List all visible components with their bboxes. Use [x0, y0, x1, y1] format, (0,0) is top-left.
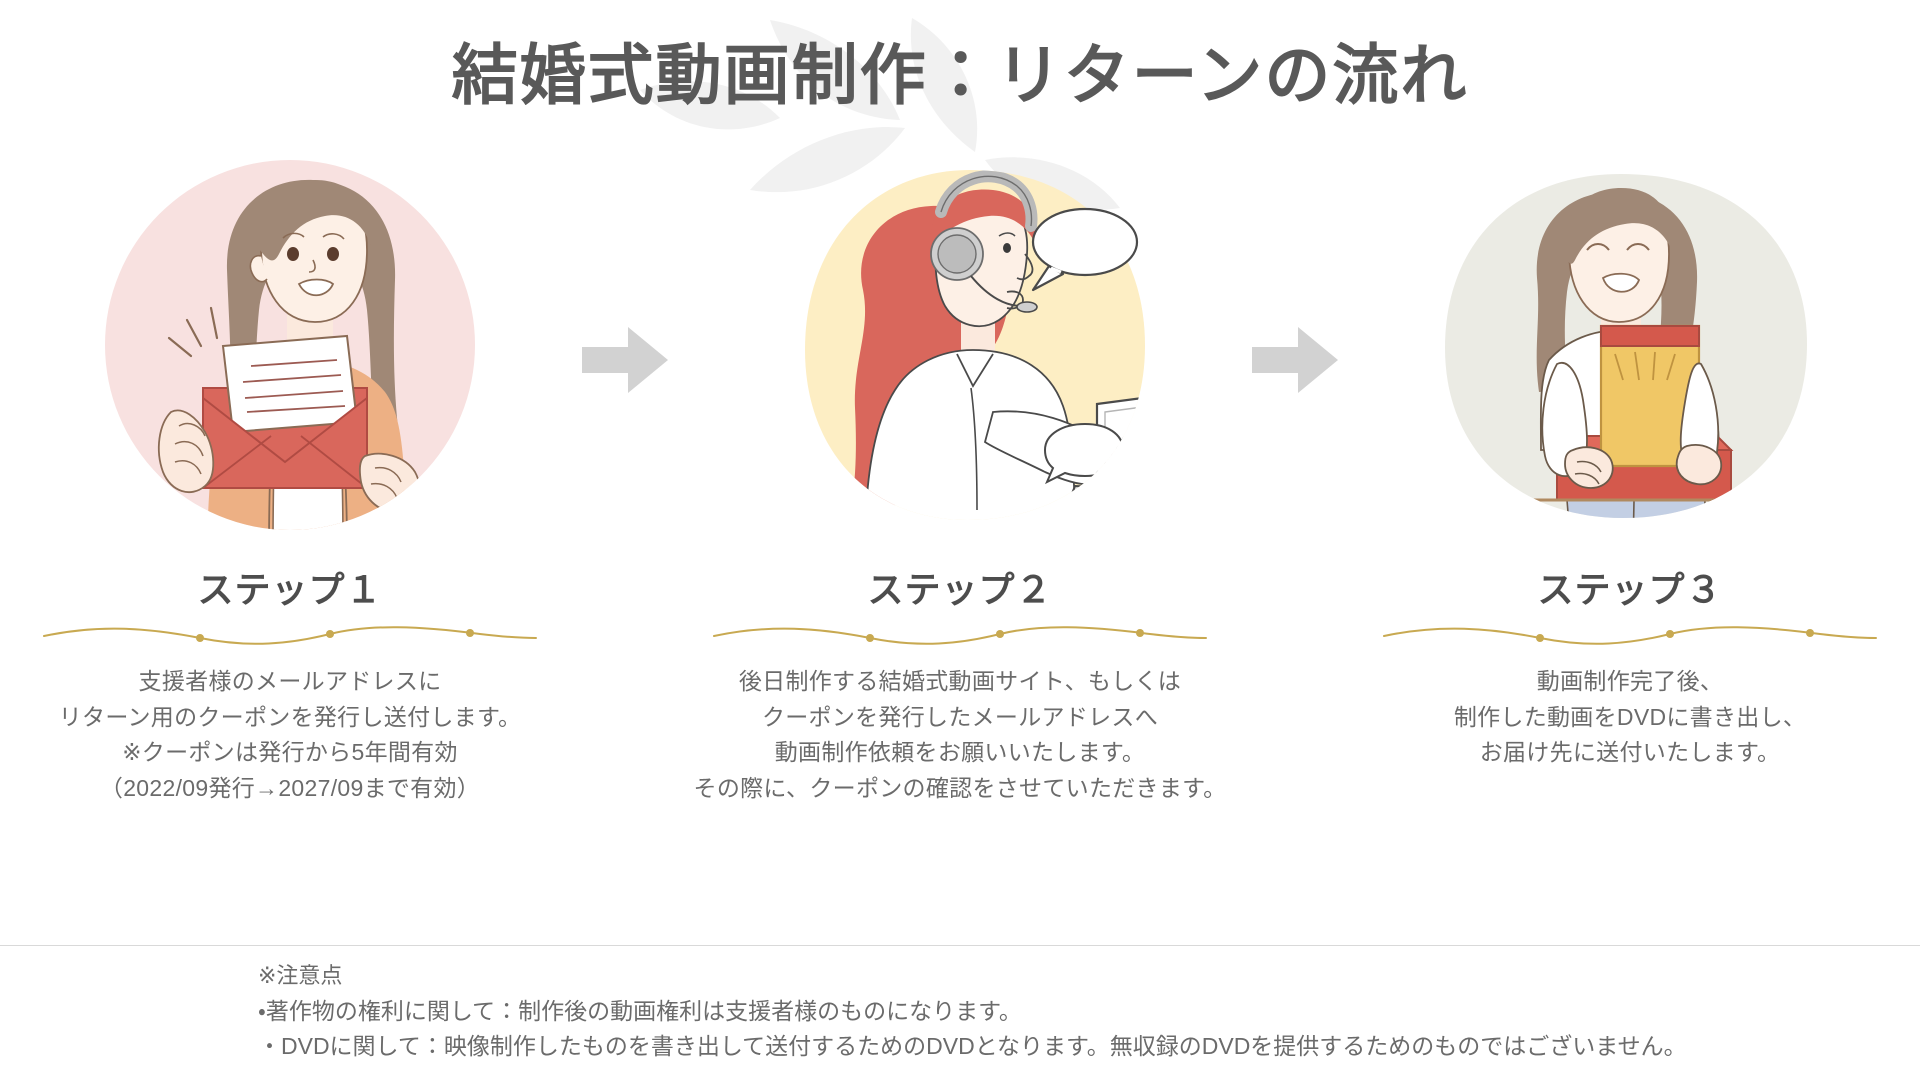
step-card-2: ステップ２ 後日制作する結婚式動画サイト、もしくは クーポンを発行したメールアド…: [680, 150, 1240, 807]
steps-container: ステップ１ 支援者様のメールアドレスに リターン用のクーポンを発行し送付します。…: [0, 150, 1920, 940]
arrow-cell-1: [570, 150, 680, 395]
footer-divider: [0, 945, 1920, 946]
notes-section: ※注意点 ・著作物の権利に関して：制作後の動画権利は支援者様のものになります。 …: [258, 962, 1687, 1061]
woman-packing-parcel-illustration: [1415, 150, 1845, 550]
note-line-copyright: ・著作物の権利に関して：制作後の動画権利は支援者様のものになります。: [258, 997, 1687, 1026]
decorative-divider-1: [40, 622, 540, 648]
arrow-cell-2: [1240, 150, 1350, 395]
arrow-step1-to-step2: [582, 325, 668, 395]
decorative-divider-3: [1380, 622, 1880, 648]
step-card-3: ステップ３ 動画制作完了後、 制作した動画をDVDに書き出し、 お届け先に送付い…: [1350, 150, 1910, 771]
decorative-divider-2: [710, 622, 1210, 648]
step-body-3: 動画制作完了後、 制作した動画をDVDに書き出し、 お届け先に送付いたします。: [1454, 664, 1806, 771]
arrow-step2-to-step3: [1252, 325, 1338, 395]
page-header: 結婚式動画制作：リターンの流れ: [0, 0, 1920, 150]
step-card-1: ステップ１ 支援者様のメールアドレスに リターン用のクーポンを発行し送付します。…: [10, 150, 570, 807]
step-label-3: ステップ３: [1537, 572, 1722, 608]
step-body-1: 支援者様のメールアドレスに リターン用のクーポンを発行し送付します。 ※クーポン…: [59, 664, 522, 807]
woman-with-headset-at-laptop-illustration: [745, 150, 1175, 550]
step-label-2: ステップ２: [867, 572, 1052, 608]
step-body-2: 後日制作する結婚式動画サイト、もしくは クーポンを発行したメールアドレスへ 動画…: [694, 664, 1227, 807]
step-label-1: ステップ１: [197, 572, 382, 608]
page-title: 結婚式動画制作：リターンの流れ: [452, 42, 1469, 108]
notes-heading: ※注意点: [258, 962, 1687, 990]
woman-opening-envelope-illustration: [75, 150, 505, 550]
note-line-dvd: ・DVDに関して：映像制作したものを書き出して送付するためのDVDとなります。無…: [258, 1032, 1687, 1061]
